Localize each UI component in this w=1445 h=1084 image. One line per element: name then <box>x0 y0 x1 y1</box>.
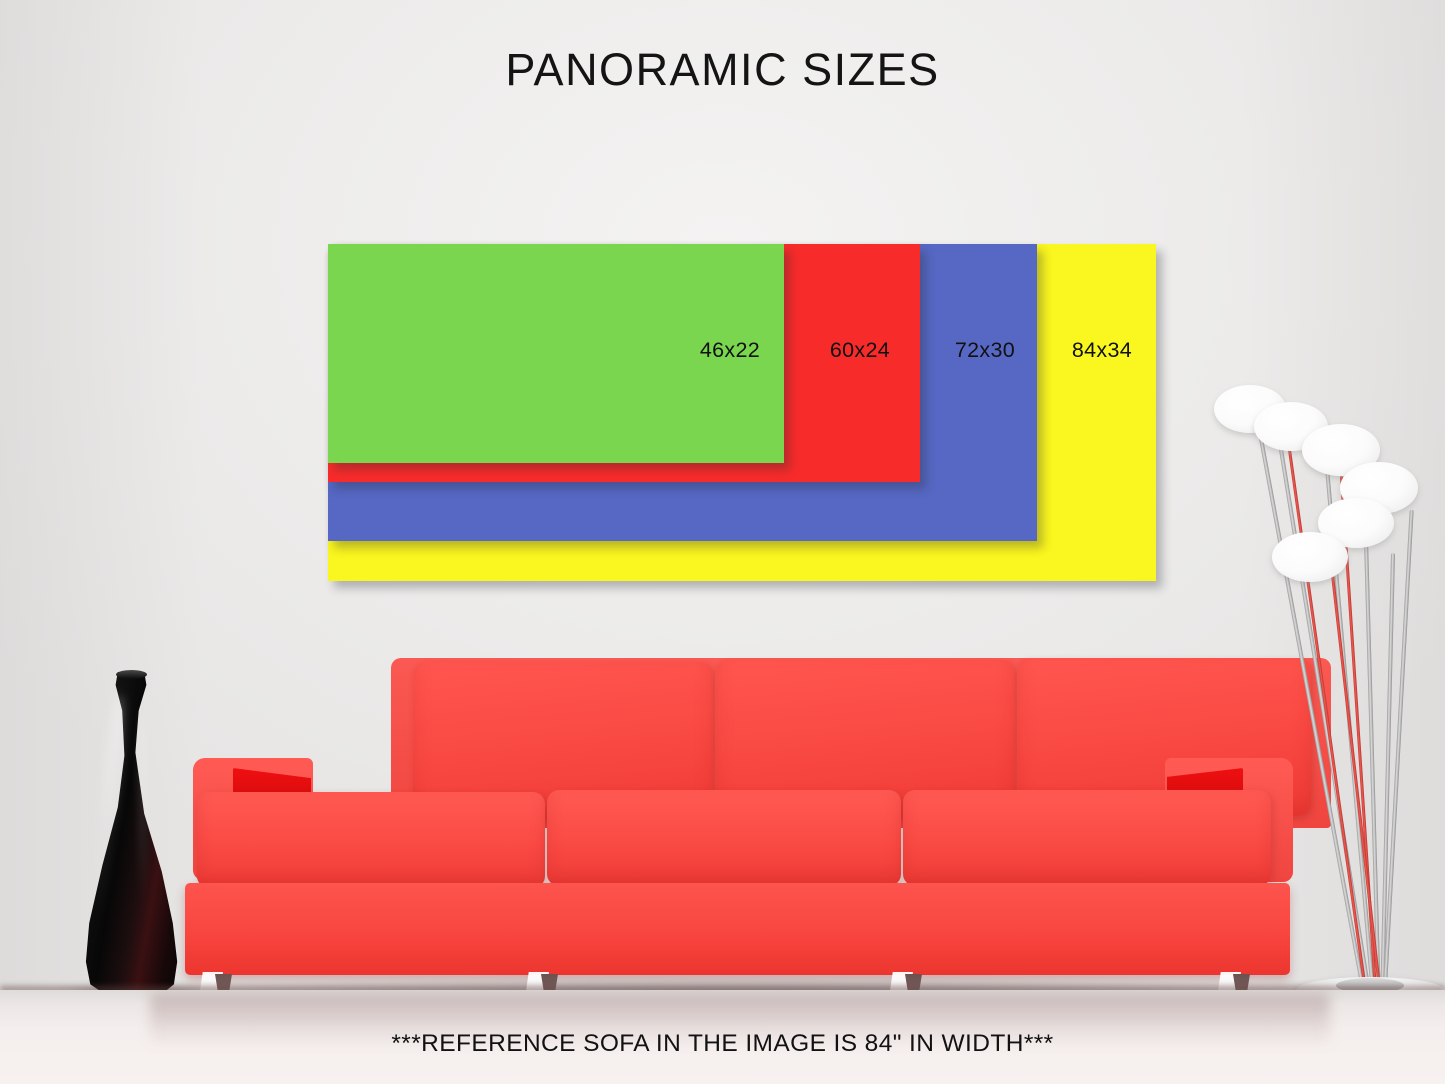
scene-root: PANORAMIC SIZES 84x3472x3060x2446x22 <box>0 0 1445 1084</box>
size-label-60x24: 60x24 <box>830 338 890 363</box>
size-label-46x22: 46x22 <box>700 338 760 363</box>
vase-body <box>76 672 186 994</box>
sofa-seat-cushion <box>197 792 545 888</box>
size-label-72x30: 72x30 <box>955 338 1015 363</box>
lamp-globe <box>1272 532 1348 582</box>
size-label-84x34: 84x34 <box>1072 338 1132 363</box>
reference-footnote: ***REFERENCE SOFA IN THE IMAGE IS 84" IN… <box>0 1030 1445 1058</box>
sofa-base <box>185 883 1290 975</box>
vase-rim <box>116 670 147 679</box>
vase-highlight-secondary <box>138 712 147 912</box>
sofa-seat-cushion <box>547 790 901 886</box>
size-swatch-46x22[interactable]: 46x22 <box>328 244 784 463</box>
red-sofa <box>175 640 1300 1000</box>
floor-lamp <box>1180 380 1445 1005</box>
black-vase <box>76 672 186 994</box>
